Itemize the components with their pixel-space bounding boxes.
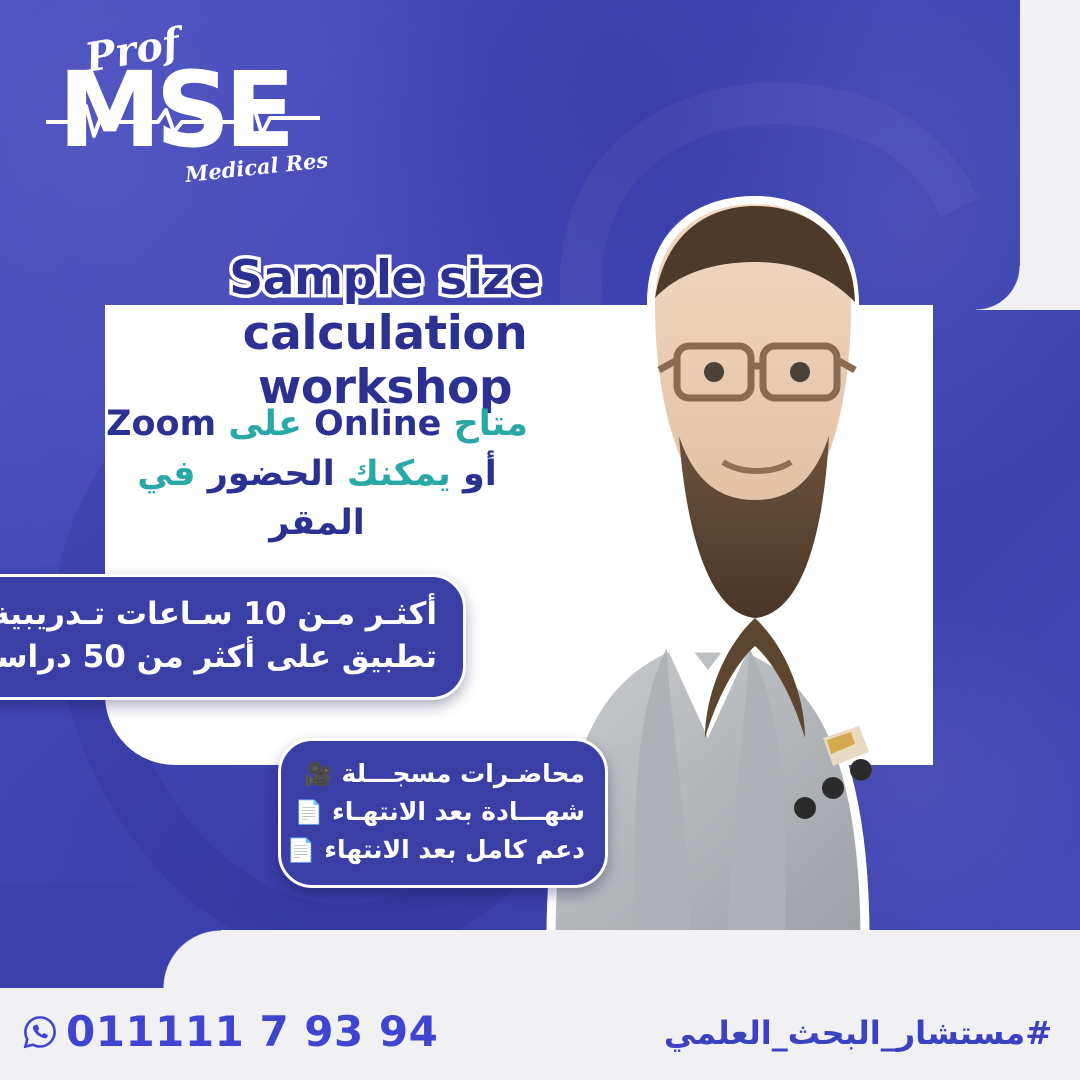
badge-row: تطبيق على أكثر من 50 دراسة واقعية! 🎓 bbox=[0, 636, 437, 679]
document-icon: 📄 bbox=[295, 800, 324, 826]
subtitle-word: Online bbox=[314, 404, 441, 444]
badge-row: محاضـرات مسجـــلة 🎥 bbox=[305, 755, 585, 793]
contact-phone[interactable]: 011111 7 93 94 bbox=[22, 1007, 438, 1056]
badge-includes: محاضـرات مسجـــلة 🎥 شهـــادة بعد الانتهـ… bbox=[278, 738, 608, 888]
badge-row-text: دعم كامل بعد الانتهاء bbox=[324, 835, 585, 864]
subtitle-word: على bbox=[228, 404, 302, 444]
badge-row-text: أكثـر مـن 10 سـاعات تـدريبية bbox=[0, 596, 437, 632]
document-icon: 📄 bbox=[287, 838, 316, 864]
promo-poster: Prof MSE Medical Research Sample size ca… bbox=[0, 0, 1080, 1080]
footer-bar: 011111 7 93 94 #مستشار_البحث_العلمي bbox=[0, 930, 1080, 1080]
badge-row: دعم كامل بعد الانتهاء 📄 bbox=[305, 831, 585, 869]
badge-row-text: تطبيق على أكثر من 50 دراسة واقعية! bbox=[0, 639, 437, 675]
badge-row: أكثـر مـن 10 سـاعات تـدريبية 🎓 bbox=[0, 593, 437, 636]
badge-row-text: محاضـرات مسجـــلة bbox=[342, 759, 585, 788]
badge-row-text: شهـــادة بعد الانتهـاء bbox=[332, 797, 585, 826]
badge-training-hours: أكثـر مـن 10 سـاعات تـدريبية 🎓 تطبيق على… bbox=[0, 574, 466, 700]
right-white-slab bbox=[1020, 0, 1080, 310]
subtitle-word: يمكنك bbox=[347, 454, 451, 494]
footer-blue-tongue bbox=[0, 883, 163, 988]
badge-row: شهـــادة بعد الانتهـاء 📄 bbox=[305, 793, 585, 831]
video-camera-icon: 🎥 bbox=[304, 762, 333, 788]
phone-number: 011111 7 93 94 bbox=[66, 1007, 438, 1056]
subtitle-word: في bbox=[137, 454, 195, 494]
whatsapp-icon bbox=[22, 1014, 58, 1050]
brand-logo: Prof MSE Medical Research bbox=[38, 14, 328, 194]
subtitle-word: Zoom bbox=[106, 404, 216, 444]
subtitle-word: الحضور bbox=[208, 454, 335, 494]
hashtag: #مستشار_البحث_العلمي bbox=[664, 1014, 1052, 1052]
subtitle-word: المقر bbox=[269, 503, 365, 543]
